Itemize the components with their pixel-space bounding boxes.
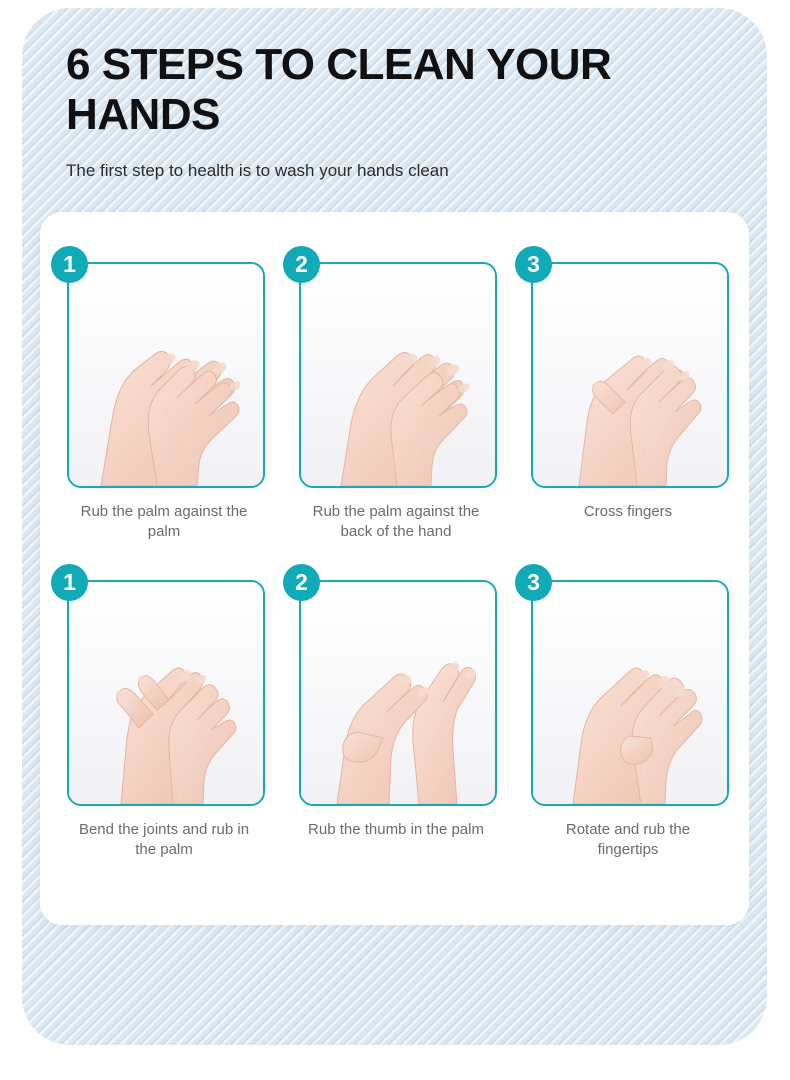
steps-grid: 1 bbox=[64, 262, 728, 860]
step-item[interactable]: 3 bbox=[528, 580, 728, 860]
step-number-badge: 3 bbox=[515, 246, 552, 283]
step-item[interactable]: 1 bbox=[64, 580, 264, 860]
hands-rub-thumb-photo bbox=[299, 580, 497, 806]
step-number-badge: 2 bbox=[283, 246, 320, 283]
step-caption: Rub the palm against the back of the han… bbox=[296, 502, 496, 542]
step-photo-wrap: 3 bbox=[531, 580, 725, 806]
step-item[interactable]: 3 bbox=[528, 262, 728, 542]
step-caption: Rotate and rub the fingertips bbox=[528, 820, 728, 860]
step-photo-wrap: 2 bbox=[299, 262, 493, 488]
hands-rotate-fingertips-photo bbox=[531, 580, 729, 806]
hands-cross-fingers-photo bbox=[531, 262, 729, 488]
page-subtitle: The first step to health is to wash your… bbox=[66, 160, 686, 182]
step-number-badge: 1 bbox=[51, 246, 88, 283]
hands-palm-against-palm-photo bbox=[67, 262, 265, 488]
step-photo-wrap: 1 bbox=[67, 580, 261, 806]
poster-header: 6 STEPS TO CLEAN YOUR HANDS The first st… bbox=[66, 40, 686, 182]
step-photo-wrap: 2 bbox=[299, 580, 493, 806]
step-photo-wrap: 3 bbox=[531, 262, 725, 488]
step-item[interactable]: 2 bbox=[296, 262, 496, 542]
hands-palm-against-back-photo bbox=[299, 262, 497, 488]
step-caption: Bend the joints and rub in the palm bbox=[64, 820, 264, 860]
poster-panel: 6 STEPS TO CLEAN YOUR HANDS The first st… bbox=[22, 8, 767, 1045]
step-item[interactable]: 2 bbox=[296, 580, 496, 860]
step-caption: Rub the palm against the palm bbox=[64, 502, 264, 542]
step-item[interactable]: 1 bbox=[64, 262, 264, 542]
step-number-badge: 2 bbox=[283, 564, 320, 601]
steps-row-top: 1 bbox=[64, 262, 728, 542]
step-caption: Rub the thumb in the palm bbox=[296, 820, 496, 840]
steps-row-bottom: 1 bbox=[64, 580, 728, 860]
step-photo-wrap: 1 bbox=[67, 262, 261, 488]
step-number-badge: 1 bbox=[51, 564, 88, 601]
step-caption: Cross fingers bbox=[528, 502, 728, 522]
steps-card: 1 bbox=[40, 212, 749, 925]
step-number-badge: 3 bbox=[515, 564, 552, 601]
page-title: 6 STEPS TO CLEAN YOUR HANDS bbox=[66, 40, 686, 140]
hands-bend-joints-photo bbox=[67, 580, 265, 806]
